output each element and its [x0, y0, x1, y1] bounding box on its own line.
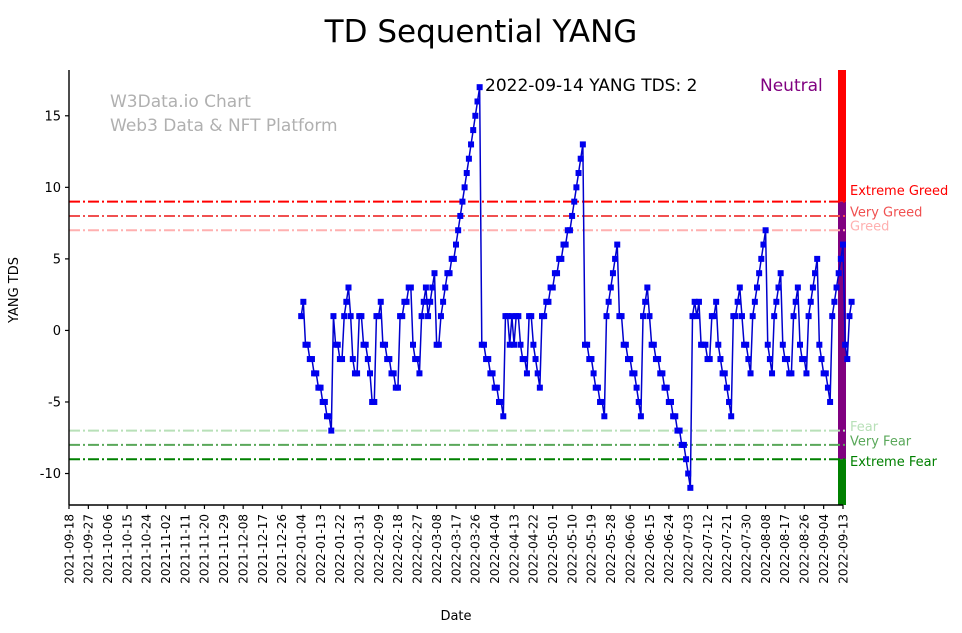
data-point [737, 285, 743, 291]
data-point [767, 356, 773, 362]
x-tick-label: 2022-02-18 [391, 514, 405, 584]
data-point [494, 385, 500, 391]
x-tick-label: 2022-02-09 [372, 514, 386, 584]
data-point [416, 370, 422, 376]
data-point [735, 299, 741, 305]
x-tick-label: 2021-11-02 [159, 514, 173, 584]
td-sequential-chart: TD Sequential YANG W3Data.io Chart Web3 … [0, 0, 962, 633]
data-point [346, 285, 352, 291]
data-point [545, 299, 551, 305]
data-point [849, 299, 855, 305]
x-tick-label: 2021-12-08 [236, 514, 250, 584]
data-point [659, 370, 665, 376]
data-point [464, 170, 470, 176]
data-point [784, 356, 790, 362]
x-tick-label: 2022-02-27 [411, 514, 425, 584]
x-tick-label: 2022-07-03 [682, 514, 696, 584]
data-point [533, 356, 539, 362]
data-point [410, 342, 416, 348]
data-point [631, 370, 637, 376]
data-point [440, 299, 446, 305]
data-point [408, 285, 414, 291]
data-point [769, 370, 775, 376]
data-point [819, 356, 825, 362]
y-axis-label: YANG TDS [7, 257, 22, 324]
x-tick-label: 2022-09-13 [836, 514, 850, 584]
y-tick-label: 15 [44, 109, 61, 124]
data-point [436, 342, 442, 348]
data-point [429, 285, 435, 291]
data-point [348, 313, 354, 319]
data-point [623, 342, 629, 348]
x-tick-label: 2022-05-01 [546, 514, 560, 584]
watermark-line-1: W3Data.io Chart [110, 92, 251, 112]
data-point [831, 299, 837, 305]
data-point [773, 299, 779, 305]
data-point [528, 313, 534, 319]
data-point [760, 242, 766, 248]
data-point [376, 313, 382, 319]
data-point [404, 299, 410, 305]
data-point [715, 342, 721, 348]
threshold-label-extreme-greed: Extreme Greed [850, 184, 948, 199]
data-point [827, 399, 833, 405]
data-point [627, 356, 633, 362]
data-point [750, 313, 756, 319]
y-tick-label: 0 [53, 324, 61, 339]
data-point [752, 299, 758, 305]
data-point [455, 227, 461, 233]
data-point [812, 270, 818, 276]
data-point [305, 342, 311, 348]
x-tick-label: 2022-01-31 [353, 514, 367, 584]
threshold-label-fear: Fear [850, 420, 879, 435]
data-point [535, 370, 541, 376]
data-point [651, 342, 657, 348]
data-point [350, 356, 356, 362]
data-point [614, 242, 620, 248]
x-tick-label: 2022-04-04 [488, 514, 502, 584]
data-point [386, 356, 392, 362]
data-point [300, 299, 306, 305]
data-point [722, 370, 728, 376]
data-point [354, 370, 360, 376]
x-tick-label: 2021-10-15 [120, 514, 134, 584]
data-point [776, 285, 782, 291]
x-tick-label: 2021-09-18 [62, 514, 76, 584]
data-point [541, 313, 547, 319]
x-tick-label: 2022-07-30 [740, 514, 754, 584]
data-point [771, 313, 777, 319]
data-point [518, 342, 524, 348]
data-point [432, 270, 438, 276]
data-point [367, 370, 373, 376]
data-point [326, 413, 332, 419]
data-point [836, 270, 842, 276]
data-point [419, 313, 425, 319]
data-point [840, 242, 846, 248]
data-point [797, 342, 803, 348]
data-point [573, 184, 579, 190]
data-point [457, 213, 463, 219]
data-point [530, 342, 536, 348]
data-point [655, 356, 661, 362]
data-point [765, 342, 771, 348]
x-tick-label: 2022-01-04 [295, 514, 309, 584]
data-point [343, 299, 349, 305]
x-tick-label: 2022-05-10 [565, 514, 579, 584]
data-point [791, 313, 797, 319]
data-point [490, 370, 496, 376]
data-point [748, 370, 754, 376]
data-point [717, 356, 723, 362]
data-point [511, 342, 517, 348]
data-point [500, 413, 506, 419]
data-point [677, 428, 683, 434]
x-tick-label: 2021-11-20 [198, 514, 212, 584]
x-axis-ticks: 2021-09-182021-09-272021-10-062021-10-15… [62, 505, 850, 584]
data-point [711, 313, 717, 319]
fear-zone [838, 459, 846, 505]
x-tick-label: 2021-11-11 [178, 514, 192, 584]
data-point [576, 170, 582, 176]
data-point [537, 385, 543, 391]
data-point [814, 256, 820, 262]
x-axis-label: Date [440, 609, 471, 624]
data-point [447, 270, 453, 276]
data-point [642, 299, 648, 305]
x-tick-label: 2022-06-06 [623, 514, 637, 584]
x-tick-label: 2022-04-13 [507, 514, 521, 584]
data-point [713, 299, 719, 305]
y-tick-label: 5 [53, 252, 61, 267]
x-tick-label: 2021-11-29 [217, 514, 231, 584]
y-tick-label: 10 [44, 181, 61, 196]
data-point [647, 313, 653, 319]
chart-title: TD Sequential YANG [324, 14, 638, 50]
x-tick-label: 2022-07-12 [701, 514, 715, 584]
data-point [438, 313, 444, 319]
x-tick-label: 2022-04-22 [527, 514, 541, 584]
data-point [825, 385, 831, 391]
data-point [485, 356, 491, 362]
data-point [309, 356, 315, 362]
data-point [610, 270, 616, 276]
data-point [728, 413, 734, 419]
data-point [754, 285, 760, 291]
watermark-line-2: Web3 Data & NFT Platform [110, 116, 338, 136]
data-point [550, 285, 556, 291]
data-point [567, 227, 573, 233]
data-point [391, 370, 397, 376]
data-point [328, 428, 334, 434]
data-point [462, 184, 468, 190]
data-point [358, 313, 364, 319]
data-point [470, 127, 476, 133]
data-point [459, 199, 465, 205]
data-point [599, 399, 605, 405]
data-point [341, 313, 347, 319]
data-point [378, 299, 384, 305]
x-tick-label: 2022-01-13 [314, 514, 328, 584]
data-point [427, 299, 433, 305]
data-point [466, 156, 472, 162]
data-point [694, 313, 700, 319]
x-tick-label: 2022-07-21 [720, 514, 734, 584]
data-point [498, 399, 504, 405]
data-point [554, 270, 560, 276]
data-point [425, 313, 431, 319]
data-point [808, 299, 814, 305]
x-tick-label: 2021-09-27 [82, 514, 96, 584]
data-point [810, 285, 816, 291]
annotation-text: 2022-09-14 YANG TDS: 2 [485, 76, 697, 96]
data-point [612, 256, 618, 262]
data-point [681, 442, 687, 448]
data-point [604, 313, 610, 319]
data-point [423, 285, 429, 291]
data-point [743, 342, 749, 348]
data-point [842, 342, 848, 348]
data-point [636, 399, 642, 405]
data-point [371, 399, 377, 405]
data-point [778, 270, 784, 276]
data-point [524, 370, 530, 376]
data-point [619, 313, 625, 319]
x-tick-label: 2021-10-06 [101, 514, 115, 584]
x-tick-label: 2022-06-15 [643, 514, 657, 584]
data-point [588, 356, 594, 362]
x-tick-label: 2022-05-19 [585, 514, 599, 584]
data-point [451, 256, 457, 262]
data-point [330, 313, 336, 319]
chart-container: TD Sequential YANG W3Data.io Chart Web3 … [0, 0, 962, 633]
threshold-label-very-greed: Very Greed [850, 205, 922, 220]
x-tick-label: 2022-01-22 [333, 514, 347, 584]
data-point [685, 471, 691, 477]
data-point [468, 141, 474, 147]
x-tick-label: 2021-10-24 [140, 514, 154, 584]
data-point [745, 356, 751, 362]
data-point [475, 98, 481, 104]
x-tick-label: 2022-09-04 [817, 514, 831, 584]
data-point [733, 313, 739, 319]
data-point [365, 356, 371, 362]
data-point [846, 313, 852, 319]
data-point [584, 342, 590, 348]
data-point [442, 285, 448, 291]
data-point [664, 385, 670, 391]
data-point [515, 313, 521, 319]
data-point [795, 285, 801, 291]
data-point [844, 356, 850, 362]
data-point [472, 113, 478, 119]
threshold-label-very-fear: Very Fear [850, 434, 912, 449]
x-tick-label: 2022-08-26 [798, 514, 812, 584]
data-point [335, 342, 341, 348]
data-point [829, 313, 835, 319]
data-point [580, 141, 586, 147]
threshold-label-greed: Greed [850, 220, 889, 235]
data-point [414, 356, 420, 362]
data-point [801, 356, 807, 362]
x-tick-label: 2022-08-08 [759, 514, 773, 584]
data-point [696, 299, 702, 305]
data-point [724, 385, 730, 391]
annotation-state-label: Neutral [760, 76, 823, 96]
data-point [399, 313, 405, 319]
data-point [318, 385, 324, 391]
data-point [763, 227, 769, 233]
data-point [522, 356, 528, 362]
data-point [298, 313, 304, 319]
data-point [571, 199, 577, 205]
data-point [634, 385, 640, 391]
data-point [606, 299, 612, 305]
data-point [816, 342, 822, 348]
threshold-label-extreme-fear: Extreme Fear [850, 455, 938, 470]
data-point [640, 313, 646, 319]
x-tick-label: 2022-06-24 [662, 514, 676, 584]
data-point [803, 370, 809, 376]
y-tick-label: -10 [40, 467, 61, 482]
data-point [453, 242, 459, 248]
data-point [339, 356, 345, 362]
data-point [477, 84, 483, 90]
data-point [687, 485, 693, 491]
data-point [322, 399, 328, 405]
data-point [702, 342, 708, 348]
data-point [726, 399, 732, 405]
data-point [834, 285, 840, 291]
data-point [780, 342, 786, 348]
data-point [558, 256, 564, 262]
data-point [382, 342, 388, 348]
data-point [313, 370, 319, 376]
data-point [644, 285, 650, 291]
data-point [601, 413, 607, 419]
data-point [683, 456, 689, 462]
data-point [363, 342, 369, 348]
data-point [569, 213, 575, 219]
data-point [481, 342, 487, 348]
x-tick-label: 2021-12-17 [256, 514, 270, 584]
data-point [668, 399, 674, 405]
data-point [608, 285, 614, 291]
data-point [395, 385, 401, 391]
data-point [758, 256, 764, 262]
data-point [806, 313, 812, 319]
data-point [793, 299, 799, 305]
data-point [595, 385, 601, 391]
data-point [563, 242, 569, 248]
data-point [838, 256, 844, 262]
greed-zone [838, 70, 846, 202]
data-point [788, 370, 794, 376]
data-point [739, 313, 745, 319]
data-point [672, 413, 678, 419]
data-point [823, 370, 829, 376]
data-point [591, 370, 597, 376]
data-point [638, 413, 644, 419]
data-point [707, 356, 713, 362]
x-tick-label: 2022-03-08 [430, 514, 444, 584]
x-tick-label: 2022-03-26 [469, 514, 483, 584]
x-tick-label: 2021-12-26 [275, 514, 289, 584]
x-tick-label: 2022-05-28 [604, 514, 618, 584]
data-point [756, 270, 762, 276]
data-point [421, 299, 427, 305]
y-tick-label: -5 [48, 395, 61, 410]
x-tick-label: 2022-03-17 [449, 514, 463, 584]
x-tick-label: 2022-08-17 [778, 514, 792, 584]
data-point [578, 156, 584, 162]
